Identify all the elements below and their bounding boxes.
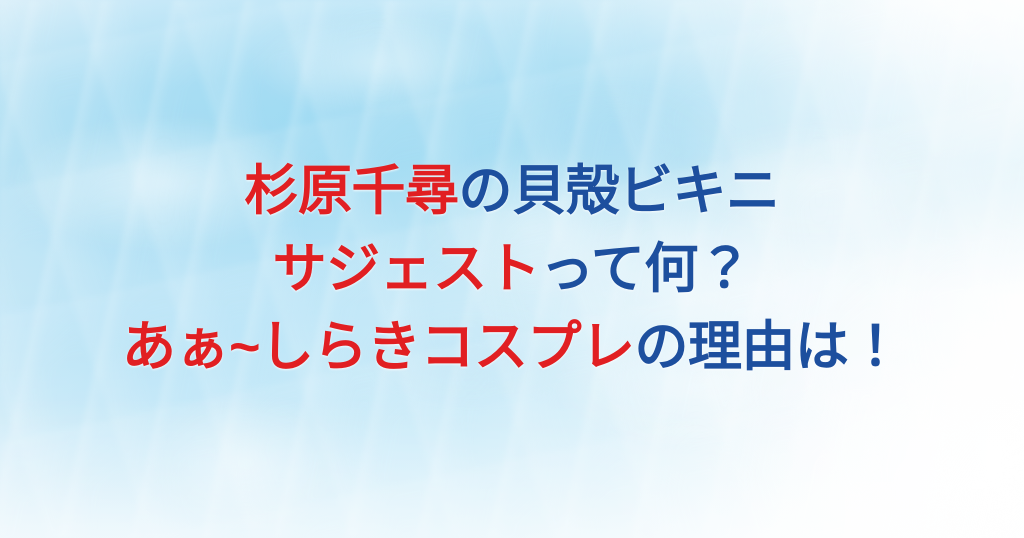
headline-text-block: 杉原千尋の貝殻ビキニ サジェストって何？ あぁ~しらきコスプレの理由は！ [0,152,1024,386]
thumbnail-banner: 杉原千尋の貝殻ビキニ サジェストって何？ あぁ~しらきコスプレの理由は！ [0,0,1024,538]
headline-line-2-segment-red: サジェスト [273,239,541,299]
headline-line-1: 杉原千尋の貝殻ビキニ [24,152,1000,230]
headline-line-3-segment-red: あぁ~しらきコスプレ [122,317,635,377]
headline-line-2: サジェストって何？ [24,230,1000,308]
headline-line-1-segment-red: 杉原千尋 [245,161,459,221]
headline-line-3: あぁ~しらきコスプレの理由は！ [24,308,1000,386]
headline-line-1-segment-blue: の貝殻ビキニ [459,161,780,221]
headline-line-2-segment-blue: って何？ [540,239,751,299]
headline-line-3-segment-blue: の理由は！ [635,317,903,377]
